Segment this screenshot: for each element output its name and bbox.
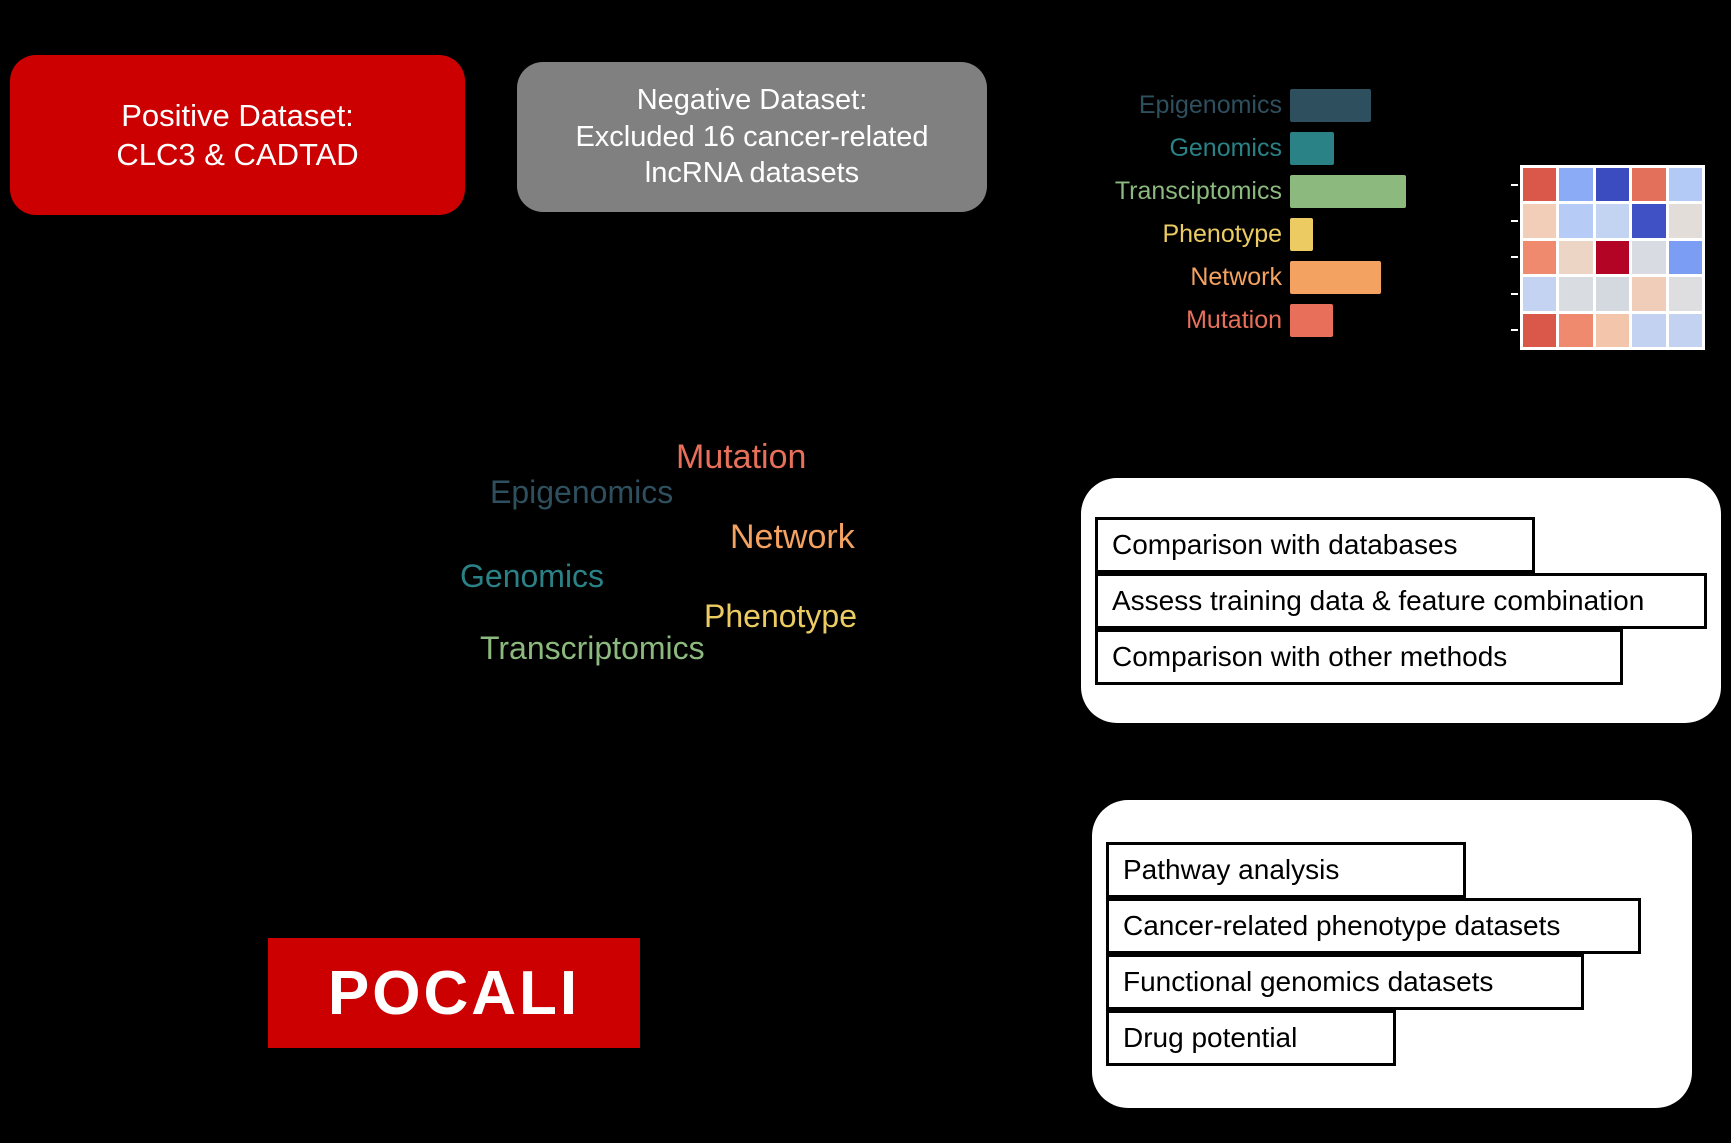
- heatmap-axis-tick: [1511, 293, 1518, 295]
- heatmap-cell: [1559, 241, 1592, 274]
- bar-label-wrap: Transciptomics: [1090, 177, 1290, 206]
- panel-item[interactable]: Comparison with databases: [1095, 517, 1535, 573]
- feature-category-bar-chart: EpigenomicsGenomicsTransciptomicsPhenoty…: [1090, 88, 1420, 338]
- positive-dataset-box: Positive Dataset: CLC3 & CADTAD: [10, 55, 465, 215]
- heatmap-cell: [1596, 168, 1629, 201]
- validation-panel: Comparison with databasesAssess training…: [1081, 478, 1721, 723]
- bar-rect: [1290, 261, 1381, 294]
- pocali-logo-text: POCALI: [328, 958, 580, 1029]
- bar-label: Epigenomics: [1139, 91, 1290, 119]
- panel-item[interactable]: Drug potential: [1106, 1010, 1396, 1066]
- bar-rect: [1290, 304, 1333, 337]
- feature-word-genomics: Genomics: [460, 558, 604, 595]
- positive-dataset-line1: Positive Dataset:: [116, 96, 358, 135]
- bar-label-wrap: Genomics: [1090, 134, 1290, 163]
- heatmap-cell: [1523, 168, 1556, 201]
- heatmap-cell: [1559, 277, 1592, 310]
- feature-word-mutation: Mutation: [676, 438, 806, 477]
- heatmap-cell: [1523, 241, 1556, 274]
- heatmap-cell: [1596, 204, 1629, 237]
- heatmap-cell: [1632, 277, 1665, 310]
- heatmap-cell: [1559, 314, 1592, 347]
- heatmap-axis-tick: [1511, 256, 1518, 258]
- negative-dataset-box: Negative Dataset: Excluded 16 cancer-rel…: [517, 62, 987, 212]
- heatmap-cell: [1596, 277, 1629, 310]
- negative-dataset-line3: lncRNA datasets: [575, 155, 928, 192]
- bar-row: Mutation: [1090, 303, 1420, 338]
- feature-word-transcriptomics: Transcriptomics: [480, 630, 705, 667]
- bar-rect: [1290, 89, 1371, 122]
- panel-item[interactable]: Comparison with other methods: [1095, 629, 1623, 685]
- heatmap-cell: [1669, 168, 1702, 201]
- heatmap-axis-tick: [1511, 329, 1518, 331]
- bar-label-wrap: Network: [1090, 263, 1290, 292]
- positive-dataset-line2: CLC3 & CADTAD: [116, 135, 358, 174]
- panel-item[interactable]: Assess training data & feature combinati…: [1095, 573, 1707, 629]
- bar-row: Phenotype: [1090, 217, 1420, 252]
- heatmap-cell: [1669, 314, 1702, 347]
- heatmap-cell: [1669, 277, 1702, 310]
- bar-row: Network: [1090, 260, 1420, 295]
- negative-dataset-line2: Excluded 16 cancer-related: [575, 119, 928, 156]
- bar-label: Phenotype: [1162, 220, 1290, 248]
- bar-row: Genomics: [1090, 131, 1420, 166]
- heatmap-axis-tick: [1511, 220, 1518, 222]
- heatmap-cell: [1632, 168, 1665, 201]
- heatmap-cell: [1523, 204, 1556, 237]
- feature-word-cloud: MutationEpigenomicsNetworkGenomicsPhenot…: [460, 430, 980, 680]
- heatmap-axis-tick: [1511, 184, 1518, 186]
- heatmap-cell: [1596, 241, 1629, 274]
- bar-label-wrap: Mutation: [1090, 306, 1290, 335]
- heatmap-cell: [1669, 204, 1702, 237]
- bar-rect: [1290, 218, 1313, 251]
- negative-dataset-line1: Negative Dataset:: [575, 82, 928, 119]
- correlation-heatmap: [1520, 165, 1705, 350]
- positive-dataset-text: Positive Dataset: CLC3 & CADTAD: [116, 96, 358, 174]
- bar-label: Mutation: [1186, 306, 1290, 334]
- heatmap-cell: [1596, 314, 1629, 347]
- application-panel: Pathway analysisCancer-related phenotype…: [1092, 800, 1692, 1108]
- panel-item[interactable]: Cancer-related phenotype datasets: [1106, 898, 1641, 954]
- heatmap-cell: [1559, 204, 1592, 237]
- bar-rect: [1290, 132, 1334, 165]
- heatmap-cell: [1523, 314, 1556, 347]
- negative-dataset-text: Negative Dataset: Excluded 16 cancer-rel…: [575, 82, 928, 192]
- bar-label: Genomics: [1169, 134, 1290, 162]
- panel-item[interactable]: Functional genomics datasets: [1106, 954, 1584, 1010]
- bar-rect: [1290, 175, 1406, 208]
- feature-word-phenotype: Phenotype: [704, 598, 857, 635]
- bar-label-wrap: Epigenomics: [1090, 91, 1290, 120]
- bar-row: Transciptomics: [1090, 174, 1420, 209]
- feature-word-network: Network: [730, 518, 855, 557]
- bar-label: Transciptomics: [1115, 177, 1290, 205]
- bar-label: Network: [1190, 263, 1290, 291]
- heatmap-cell: [1669, 241, 1702, 274]
- panel-item[interactable]: Pathway analysis: [1106, 842, 1466, 898]
- feature-word-epigenomics: Epigenomics: [490, 474, 673, 511]
- pocali-logo: POCALI: [268, 938, 640, 1048]
- heatmap-cell: [1632, 204, 1665, 237]
- heatmap-cell: [1559, 168, 1592, 201]
- heatmap-cell: [1632, 241, 1665, 274]
- heatmap-cell: [1632, 314, 1665, 347]
- bar-row: Epigenomics: [1090, 88, 1420, 123]
- bar-label-wrap: Phenotype: [1090, 220, 1290, 249]
- heatmap-cell: [1523, 277, 1556, 310]
